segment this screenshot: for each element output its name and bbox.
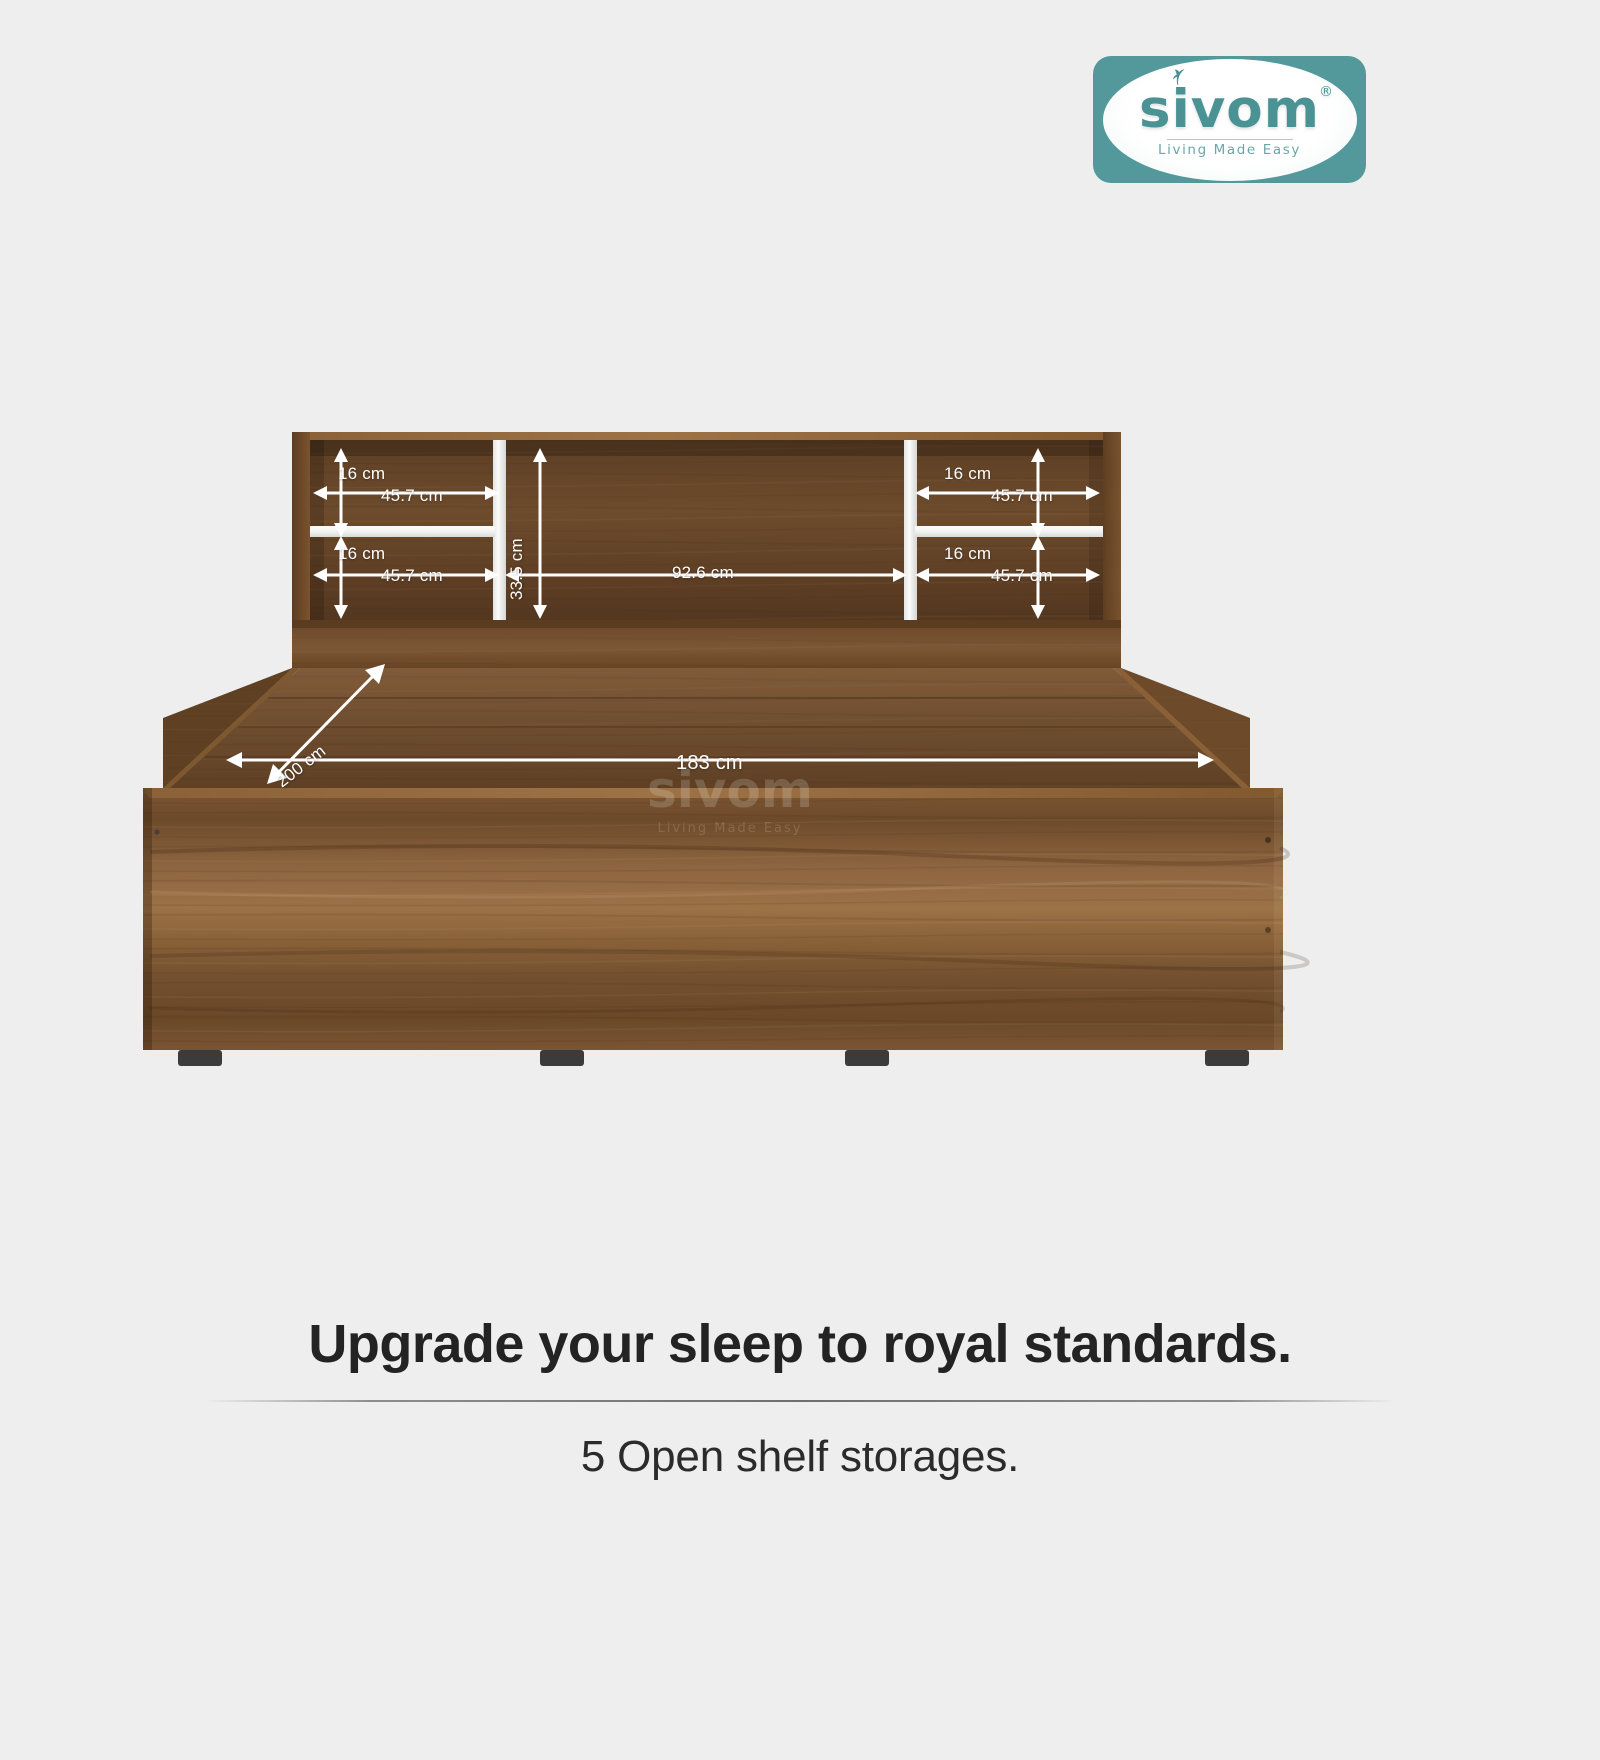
brand-logo-badge: sivom ® Living Made Easy xyxy=(1093,56,1366,183)
brand-wordmark: sivom xyxy=(1139,79,1320,140)
dimension-label-bed-width: 183 cm xyxy=(676,752,743,775)
brand-logo-ellipse: sivom ® Living Made Easy xyxy=(1103,59,1357,181)
dimension-label-left-bottom-height: 16 cm xyxy=(338,544,385,564)
dimension-label-right-top-height: 16 cm xyxy=(944,464,991,484)
caption-block: Upgrade your sleep to royal standards. 5… xyxy=(0,1315,1600,1482)
caption-divider xyxy=(205,1400,1395,1402)
bed-leg xyxy=(845,1050,889,1066)
dimension-label-right-top-width: 45.7 cm xyxy=(991,486,1053,506)
bed-leg xyxy=(178,1050,222,1066)
dimension-label-headboard-height: 33.5 cm xyxy=(507,538,527,600)
bed-leg xyxy=(540,1050,584,1066)
dimension-label-left-top-width: 45.7 cm xyxy=(381,486,443,506)
bed-frame xyxy=(143,668,1308,1066)
registered-trademark-icon: ® xyxy=(1319,85,1334,99)
brand-wordmark-container: sivom ® xyxy=(1139,83,1320,136)
headboard xyxy=(292,432,1121,668)
dimension-label-right-bottom-width: 45.7 cm xyxy=(991,566,1053,586)
product-illustration: 16 cm 45.7 cm 16 cm 45.7 cm 33.5 cm 92.6… xyxy=(0,400,1600,1100)
brand-tagline: Living Made Easy xyxy=(1158,142,1301,158)
subheadline: 5 Open shelf storages. xyxy=(0,1432,1600,1482)
dimension-label-center-width: 92.6 cm xyxy=(672,563,734,583)
bed-leg xyxy=(1205,1050,1249,1066)
headline: Upgrade your sleep to royal standards. xyxy=(0,1315,1600,1374)
bed-diagram xyxy=(0,400,1600,1100)
shelf-right-middle xyxy=(915,526,1103,537)
leaf-icon xyxy=(1170,68,1186,86)
dimension-label-right-bottom-height: 16 cm xyxy=(944,544,991,564)
dimension-label-left-bottom-width: 45.7 cm xyxy=(381,566,443,586)
dimension-label-left-top-height: 16 cm xyxy=(338,464,385,484)
